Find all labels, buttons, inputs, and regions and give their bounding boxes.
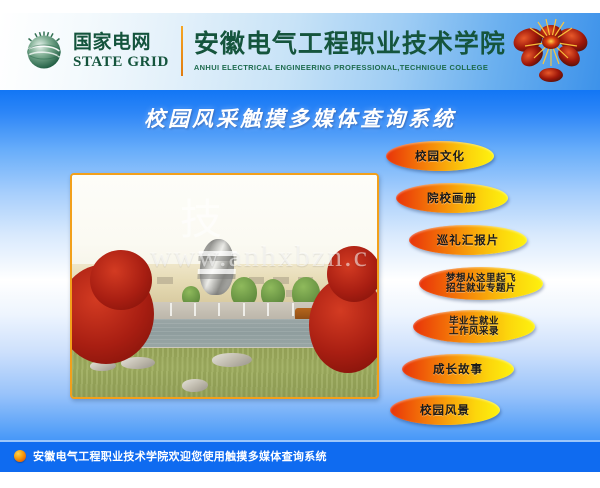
brand-divider bbox=[181, 26, 183, 76]
state-grid-wordmark: 国家电网 STATE GRID bbox=[73, 28, 169, 74]
menu-label: 巡礼汇报片 bbox=[437, 234, 500, 246]
branding-row: 国家电网 STATE GRID 安徽电气工程职业技术学院 ANHUI ELECT… bbox=[22, 22, 506, 80]
main-stage: 校园风采触摸多媒体查询系统 bbox=[0, 90, 600, 470]
menu-button-graduate-employment-record[interactable]: 毕业生就业 工作风采录 bbox=[413, 310, 535, 343]
menu-label: 成长故事 bbox=[433, 363, 483, 375]
menu-label-line1: 毕业生就业 bbox=[449, 317, 499, 327]
menu-label: 校园文化 bbox=[415, 150, 465, 162]
state-grid-en-text: STATE GRID bbox=[73, 53, 169, 71]
menu-button-college-album[interactable]: 院校画册 bbox=[396, 183, 508, 213]
menu-label-line2: 招生就业专题片 bbox=[446, 284, 516, 294]
menu-label-line2: 工作风采录 bbox=[449, 327, 499, 337]
menu-button-campus-culture[interactable]: 校园文化 bbox=[386, 141, 494, 171]
menu-button-tour-report-film[interactable]: 巡礼汇报片 bbox=[409, 225, 527, 255]
school-name-cn: 安徽电气工程职业技术学院 bbox=[194, 29, 506, 59]
menu-label-line1: 梦想从这里起飞 bbox=[446, 274, 516, 284]
menu-button-admission-employment-film[interactable]: 梦想从这里起飞 招生就业专题片 bbox=[419, 267, 543, 300]
menu-button-growth-stories[interactable]: 成长故事 bbox=[402, 354, 514, 384]
state-grid-cn-text: 国家电网 bbox=[73, 31, 169, 53]
kiosk-screen: 国家电网 STATE GRID 安徽电气工程职业技术学院 ANHUI ELECT… bbox=[0, 0, 600, 488]
firework-burst-icon bbox=[510, 14, 592, 90]
main-menu: 校园文化 院校画册 巡礼汇报片 梦想从这里起飞 招生就业专题片 毕业生就业 工作… bbox=[0, 90, 600, 470]
orange-sphere-bullet-icon bbox=[14, 450, 26, 462]
school-name-en: ANHUI ELECTRICAL ENGINEERING PROFESSIONA… bbox=[194, 62, 506, 74]
school-wordmark: 安徽电气工程职业技术学院 ANHUI ELECTRICAL ENGINEERIN… bbox=[194, 26, 506, 76]
menu-button-campus-scenery[interactable]: 校园风景 bbox=[390, 395, 500, 425]
state-grid-globe-emblem-icon bbox=[22, 29, 66, 73]
menu-label: 校园风景 bbox=[420, 404, 470, 416]
menu-label: 院校画册 bbox=[427, 192, 477, 204]
status-bar-text: 安徽电气工程职业技术学院欢迎您使用触摸多媒体查询系统 bbox=[33, 448, 327, 464]
status-bar: 安徽电气工程职业技术学院欢迎您使用触摸多媒体查询系统 bbox=[0, 440, 600, 472]
page-header: 国家电网 STATE GRID 安徽电气工程职业技术学院 ANHUI ELECT… bbox=[0, 13, 600, 90]
